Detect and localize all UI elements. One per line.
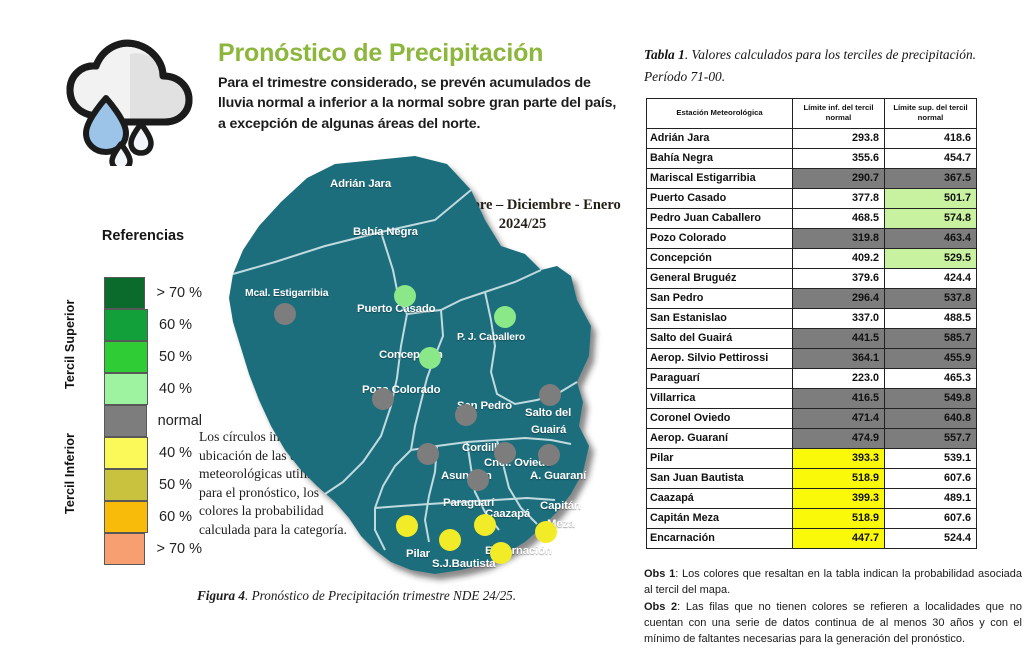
tercil-values-table: Estación Meteorológica Límite inf. del t… xyxy=(646,98,977,549)
table-row: Concepción409.2529.5 xyxy=(647,248,977,268)
cell-upper-limit: 539.1 xyxy=(885,448,977,468)
cell-station: Coronel Oviedo xyxy=(647,408,793,428)
cell-lower-limit: 399.3 xyxy=(793,488,885,508)
cell-lower-limit: 364.1 xyxy=(793,348,885,368)
station-dot[interactable] xyxy=(490,542,512,564)
legend-item: 50 % xyxy=(62,469,202,501)
table-row: San Pedro296.4537.8 xyxy=(647,288,977,308)
table-row: Salto del Guairá441.5585.7 xyxy=(647,328,977,348)
cell-upper-limit: 537.8 xyxy=(885,288,977,308)
legend-item: > 70 % xyxy=(62,533,202,565)
cell-lower-limit: 441.5 xyxy=(793,328,885,348)
cell-station: Puerto Casado xyxy=(647,188,793,208)
station-dot[interactable] xyxy=(535,521,557,543)
legend-item: normal xyxy=(62,405,202,437)
table-header-row: Estación Meteorológica Límite inf. del t… xyxy=(647,99,977,129)
cell-upper-limit: 489.1 xyxy=(885,488,977,508)
cell-station: General Bruguéz xyxy=(647,268,793,288)
legend-item: > 70 % xyxy=(62,277,202,309)
cell-upper-limit: 529.5 xyxy=(885,248,977,268)
station-dot[interactable] xyxy=(467,469,489,491)
cell-station: Pilar xyxy=(647,448,793,468)
station-dot[interactable] xyxy=(274,303,296,325)
table-row: Coronel Oviedo471.4640.8 xyxy=(647,408,977,428)
cell-upper-limit: 640.8 xyxy=(885,408,977,428)
station-dot[interactable] xyxy=(417,443,439,465)
cell-upper-limit: 463.4 xyxy=(885,228,977,248)
table-row: Pilar393.3539.1 xyxy=(647,448,977,468)
legend-swatch xyxy=(104,533,145,565)
table-caption-label: Tabla 1 xyxy=(644,47,685,62)
cell-upper-limit: 607.6 xyxy=(885,508,977,528)
cell-lower-limit: 416.5 xyxy=(793,388,885,408)
legend-swatch xyxy=(104,341,148,373)
cell-upper-limit: 454.7 xyxy=(885,148,977,168)
table-row: San Juan Bautista518.9607.6 xyxy=(647,468,977,488)
table-row: Capitán Meza518.9607.6 xyxy=(647,508,977,528)
cell-station: Villarrica xyxy=(647,388,793,408)
rain-cloud-icon xyxy=(58,24,198,166)
cell-lower-limit: 518.9 xyxy=(793,508,885,528)
station-dot[interactable] xyxy=(474,514,496,536)
cell-lower-limit: 290.7 xyxy=(793,168,885,188)
table-header: Estación Meteorológica Límite inf. del t… xyxy=(647,99,977,129)
station-dot[interactable] xyxy=(394,285,416,307)
legend-item: 40 % xyxy=(62,437,202,469)
forecast-left-panel: Pronóstico de Precipitación Para el trim… xyxy=(0,0,636,647)
cell-upper-limit: 585.7 xyxy=(885,328,977,348)
station-dot[interactable] xyxy=(419,347,441,369)
table-row: Adrián Jara293.8418.6 xyxy=(647,128,977,148)
cell-station: Concepción xyxy=(647,248,793,268)
legend-item: 40 % xyxy=(62,373,202,405)
legend-swatch xyxy=(104,309,148,341)
legend-swatch xyxy=(104,277,145,309)
table-row: Pedro Juan Caballero468.5574.8 xyxy=(647,208,977,228)
tercil-table-panel: Tabla 1. Valores calculados para los ter… xyxy=(636,0,1024,647)
cell-lower-limit: 337.0 xyxy=(793,308,885,328)
cell-lower-limit: 223.0 xyxy=(793,368,885,388)
legend-scale: > 70 %60 %50 %40 %normal40 %50 %60 %> 70… xyxy=(62,277,202,565)
cell-station: Caazapá xyxy=(647,488,793,508)
cell-lower-limit: 377.8 xyxy=(793,188,885,208)
station-dot[interactable] xyxy=(396,515,418,537)
cell-station: Aerop. Guaraní xyxy=(647,428,793,448)
cell-station: San Juan Bautista xyxy=(647,468,793,488)
cell-upper-limit: 557.7 xyxy=(885,428,977,448)
cell-station: Pedro Juan Caballero xyxy=(647,208,793,228)
cell-station: Paraguarí xyxy=(647,368,793,388)
table-row: Mariscal Estigarribia290.7367.5 xyxy=(647,168,977,188)
station-dot[interactable] xyxy=(439,529,461,551)
cell-station: Bahía Negra xyxy=(647,148,793,168)
cell-upper-limit: 524.4 xyxy=(885,528,977,548)
header-upper-limit: Límite sup. del tercil normal xyxy=(885,99,977,129)
station-dot[interactable] xyxy=(372,388,394,410)
title-block: Pronóstico de Precipitación Para el trim… xyxy=(218,40,618,134)
observation-1: Obs 1: Los colores que resaltan en la ta… xyxy=(644,566,1022,598)
observation-2: Obs 2: Las filas que no tienen colores s… xyxy=(644,599,1022,647)
figure-caption: Figura 4. Pronóstico de Precipitación tr… xyxy=(197,588,617,604)
cell-upper-limit: 607.6 xyxy=(885,468,977,488)
table-row: Puerto Casado377.8501.7 xyxy=(647,188,977,208)
cell-lower-limit: 393.3 xyxy=(793,448,885,468)
intro-paragraph: Para el trimestre considerado, se prevén… xyxy=(218,73,618,133)
cell-station: Pozo Colorado xyxy=(647,228,793,248)
cell-station: Adrián Jara xyxy=(647,128,793,148)
cell-station: San Estanislao xyxy=(647,308,793,328)
station-dot[interactable] xyxy=(494,442,516,464)
cell-lower-limit: 293.8 xyxy=(793,128,885,148)
cell-station: San Pedro xyxy=(647,288,793,308)
table-row: Aerop. Guaraní474.9557.7 xyxy=(647,428,977,448)
page-title: Pronóstico de Precipitación xyxy=(218,40,618,66)
cell-upper-limit: 488.5 xyxy=(885,308,977,328)
legend-swatch xyxy=(104,373,148,405)
legend-swatch xyxy=(104,469,148,501)
cell-lower-limit: 474.9 xyxy=(793,428,885,448)
cell-upper-limit: 549.8 xyxy=(885,388,977,408)
cell-upper-limit: 574.8 xyxy=(885,208,977,228)
cell-lower-limit: 471.4 xyxy=(793,408,885,428)
cell-upper-limit: 418.6 xyxy=(885,128,977,148)
obs2-label: Obs 2 xyxy=(644,601,677,613)
legend-item: 60 % xyxy=(62,501,202,533)
table-caption-text: . Valores calculados para los terciles d… xyxy=(644,47,976,84)
observations-block: Obs 1: Los colores que resaltan en la ta… xyxy=(644,566,1022,648)
cell-upper-limit: 367.5 xyxy=(885,168,977,188)
cell-station: Salto del Guairá xyxy=(647,328,793,348)
cell-station: Capitán Meza xyxy=(647,508,793,528)
obs2-text: : Las filas que no tienen colores se ref… xyxy=(644,601,1022,645)
cell-lower-limit: 355.6 xyxy=(793,148,885,168)
obs1-text: : Los colores que resaltan en la tabla i… xyxy=(644,568,1022,596)
legend-swatch xyxy=(104,437,148,469)
cell-upper-limit: 424.4 xyxy=(885,268,977,288)
paraguay-forecast-map: Adrián JaraBahía NegraMcal. Estigarribia… xyxy=(185,150,625,595)
table-body: Adrián Jara293.8418.6Bahía Negra355.6454… xyxy=(647,128,977,548)
cell-station: Mariscal Estigarribia xyxy=(647,168,793,188)
table-row: Encarnación447.7524.4 xyxy=(647,528,977,548)
cell-station: Aerop. Silvio Pettirossi xyxy=(647,348,793,368)
cell-upper-limit: 465.3 xyxy=(885,368,977,388)
cell-lower-limit: 518.9 xyxy=(793,468,885,488)
station-dot[interactable] xyxy=(455,404,477,426)
table-row: Aerop. Silvio Pettirossi364.1455.9 xyxy=(647,348,977,368)
table-row: Bahía Negra355.6454.7 xyxy=(647,148,977,168)
table-row: Pozo Colorado319.8463.4 xyxy=(647,228,977,248)
cell-lower-limit: 409.2 xyxy=(793,248,885,268)
header-lower-limit: Límite inf. del tercil normal xyxy=(793,99,885,129)
cell-upper-limit: 455.9 xyxy=(885,348,977,368)
table-caption: Tabla 1. Valores calculados para los ter… xyxy=(644,44,1022,87)
legend-swatch xyxy=(104,405,147,437)
station-dot[interactable] xyxy=(494,306,516,328)
legend-item: 50 % xyxy=(62,341,202,373)
cell-lower-limit: 296.4 xyxy=(793,288,885,308)
table-row: Paraguarí223.0465.3 xyxy=(647,368,977,388)
header-station: Estación Meteorológica xyxy=(647,99,793,129)
legend-swatch xyxy=(104,501,148,533)
table-row: Caazapá399.3489.1 xyxy=(647,488,977,508)
table-row: Villarrica416.5549.8 xyxy=(647,388,977,408)
figure-caption-label: Figura 4 xyxy=(197,588,245,603)
cell-lower-limit: 468.5 xyxy=(793,208,885,228)
table-row: San Estanislao337.0488.5 xyxy=(647,308,977,328)
cell-station: Encarnación xyxy=(647,528,793,548)
station-dot[interactable] xyxy=(538,444,560,466)
legend-item: 60 % xyxy=(62,309,202,341)
station-dot[interactable] xyxy=(539,384,561,406)
cell-lower-limit: 319.8 xyxy=(793,228,885,248)
figure-caption-text: . Pronóstico de Precipitación trimestre … xyxy=(245,588,516,603)
table-row: General Bruguéz379.6424.4 xyxy=(647,268,977,288)
cell-lower-limit: 379.6 xyxy=(793,268,885,288)
obs1-label: Obs 1 xyxy=(644,568,675,580)
cell-lower-limit: 447.7 xyxy=(793,528,885,548)
cell-upper-limit: 501.7 xyxy=(885,188,977,208)
